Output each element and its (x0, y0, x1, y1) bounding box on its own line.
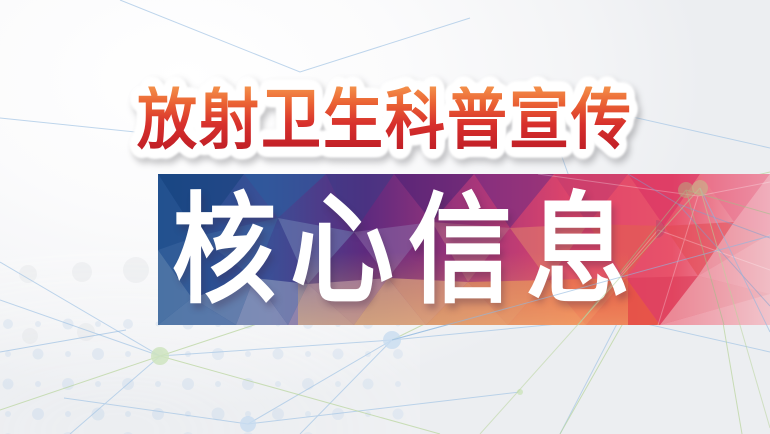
main-heading-text-layer: 核心信息 (158, 174, 770, 325)
poster-canvas: 放射卫生科普宣传 (0, 0, 770, 434)
main-heading-text: 核心信息 (172, 190, 644, 310)
subtitle-text: 放射卫生科普宣传 (137, 86, 633, 153)
poster-subtitle-heading: 放射卫生科普宣传 (0, 82, 770, 158)
main-heading-banner: 核心信息 (158, 174, 770, 325)
